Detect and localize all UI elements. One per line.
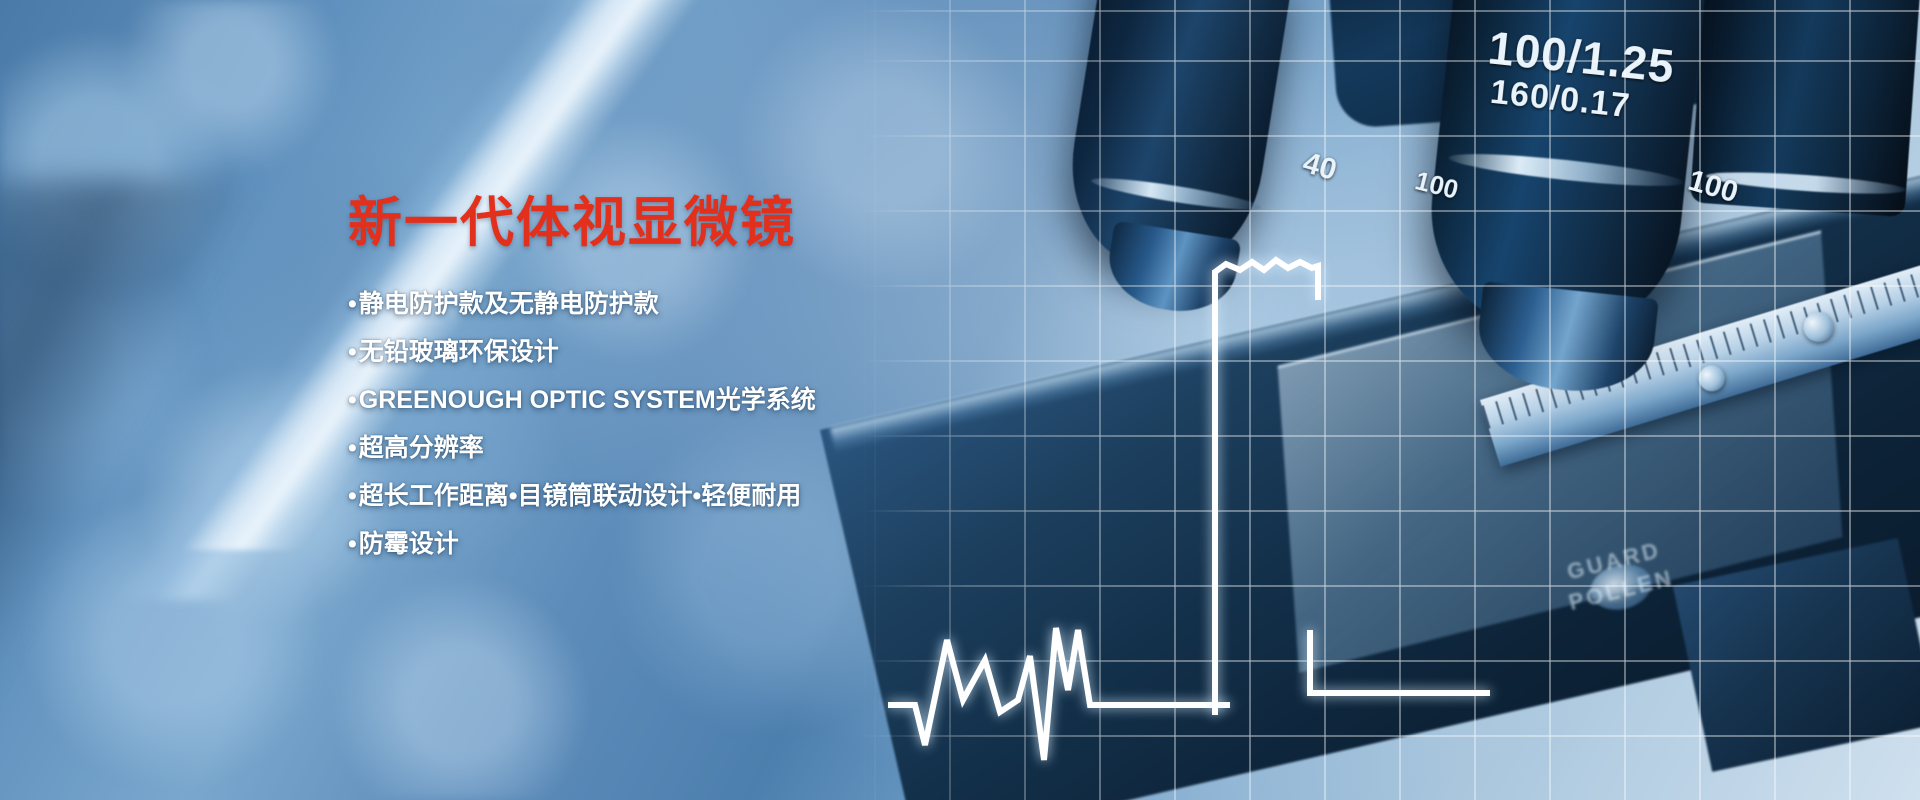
list-item-label: 防霉设计	[359, 530, 459, 558]
list-item-label: 超长工作距离•目镜筒联动设计•轻便耐用	[359, 482, 802, 510]
signal-bracket-foot	[1310, 630, 1490, 693]
banner-copy: 新一代体视显微镜 •静电防护款及无静电防护款 •无铅玻璃环保设计 •GREENO…	[348, 196, 968, 580]
ecg-waveform	[888, 628, 1230, 760]
bullet-marker: •	[348, 530, 357, 558]
list-item: •防霉设计	[348, 532, 968, 557]
bullet-marker: •	[348, 434, 357, 462]
bullet-marker: •	[348, 338, 357, 366]
list-item: •无铅玻璃环保设计	[348, 340, 968, 365]
product-banner: GUARD POLLEN 100/1.25 160/0.17 40 100 10…	[0, 0, 1920, 800]
list-item: •静电防护款及无静电防护款	[348, 292, 968, 317]
bullet-marker: •	[348, 482, 357, 510]
list-item: •超高分辨率	[348, 436, 968, 461]
list-item-label: 超高分辨率	[359, 434, 484, 462]
feature-list: •静电防护款及无静电防护款 •无铅玻璃环保设计 •GREENOUGH OPTIC…	[348, 292, 968, 557]
list-item: •GREENOUGH OPTIC SYSTEM光学系统	[348, 388, 968, 413]
page-title: 新一代体视显微镜	[348, 196, 968, 250]
bullet-marker: •	[348, 386, 357, 414]
list-item-label: 无铅玻璃环保设计	[359, 338, 559, 366]
list-item: •超长工作距离•目镜筒联动设计•轻便耐用	[348, 484, 968, 509]
list-item-label: GREENOUGH OPTIC SYSTEM光学系统	[359, 386, 816, 414]
list-item-label: 静电防护款及无静电防护款	[359, 290, 659, 318]
bullet-marker: •	[348, 290, 357, 318]
signal-bracket	[1215, 260, 1318, 715]
